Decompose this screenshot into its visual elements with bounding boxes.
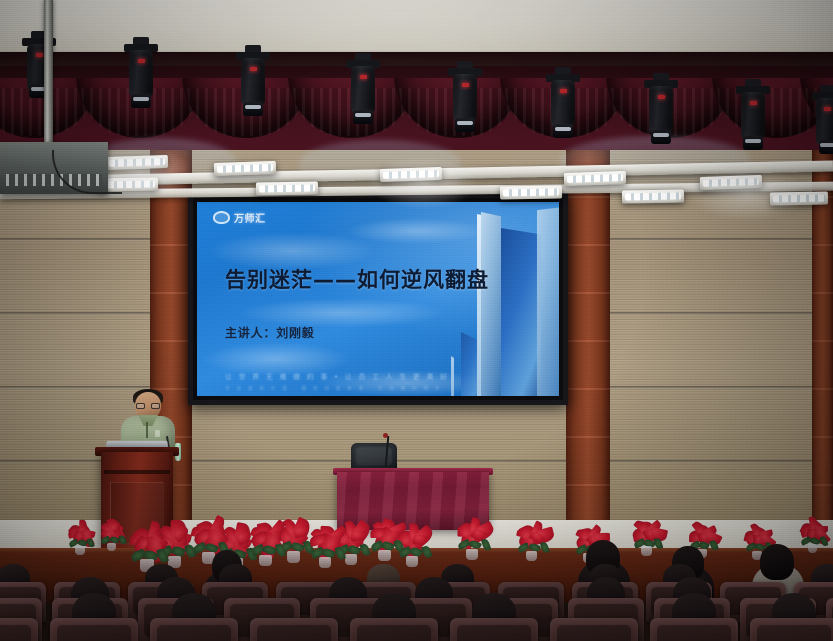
auditorium-seat[interactable] (550, 618, 638, 641)
eyeglasses-icon (136, 403, 160, 409)
moving-head-light (346, 60, 380, 124)
slide-footer-line-1: 让 世 界 无 难 做 的 事 • 让 员 工 人 生 更 美 好 (225, 372, 449, 382)
moving-head-light (124, 44, 158, 108)
slide-content: 万师汇 告别迷茫——如何逆风翻盘 主讲人：刘刚毅 让 世 界 无 难 做 的 事… (197, 202, 559, 396)
slide-skyscraper-image (447, 206, 559, 396)
led-wash-bar (214, 161, 276, 176)
led-wash-bar (256, 181, 318, 195)
led-wash-bar (380, 167, 442, 182)
auditorium-seat[interactable] (250, 618, 338, 641)
wall-column-right (566, 150, 610, 540)
audience (0, 536, 833, 641)
auditorium-seat[interactable] (450, 618, 538, 641)
slide-logo: 万师汇 (213, 210, 266, 225)
moving-head-light (236, 52, 270, 116)
slide-logo-wordmark: 万师汇 (234, 210, 266, 225)
slide-subtitle: 主讲人：刘刚毅 (225, 324, 315, 341)
auditorium-photo: 万师汇 告别迷茫——如何逆风翻盘 主讲人：刘刚毅 让 世 界 无 难 做 的 事… (0, 0, 833, 641)
projection-screen[interactable]: 万师汇 告别迷茫——如何逆风翻盘 主讲人：刘刚毅 让 世 界 无 难 做 的 事… (188, 193, 568, 405)
moving-head-light (812, 92, 833, 154)
microphone-head-icon (383, 433, 388, 438)
auditorium-seat[interactable] (0, 618, 38, 641)
led-wash-bar (564, 171, 626, 186)
presenter-badge (155, 430, 160, 437)
moving-head-light (736, 86, 770, 150)
wall-column-far-right (812, 150, 833, 540)
led-wash-bar (622, 189, 684, 203)
led-wash-bar (700, 175, 762, 190)
led-wash-bar (770, 191, 828, 205)
auditorium-seat[interactable] (750, 618, 833, 641)
double-circle-logo-icon (213, 211, 230, 224)
moving-head-light (546, 74, 580, 138)
slide-title: 告别迷茫——如何逆风翻盘 (225, 264, 489, 294)
led-wash-bar (500, 185, 562, 199)
lectern-trim (104, 470, 170, 474)
auditorium-seat[interactable] (350, 618, 438, 641)
slide-footer-line-2: 专 业 成 就 价 值 · 服 务 创 造 未 来 · 共 创 美 好 明 天 (225, 385, 442, 392)
auditorium-seat[interactable] (150, 618, 238, 641)
auditorium-seat[interactable] (650, 618, 738, 641)
presenter-placket (146, 422, 148, 438)
moving-head-light (448, 68, 482, 132)
audience-member-head (760, 544, 794, 580)
moving-head-light (644, 80, 678, 144)
auditorium-seat[interactable] (50, 618, 138, 641)
